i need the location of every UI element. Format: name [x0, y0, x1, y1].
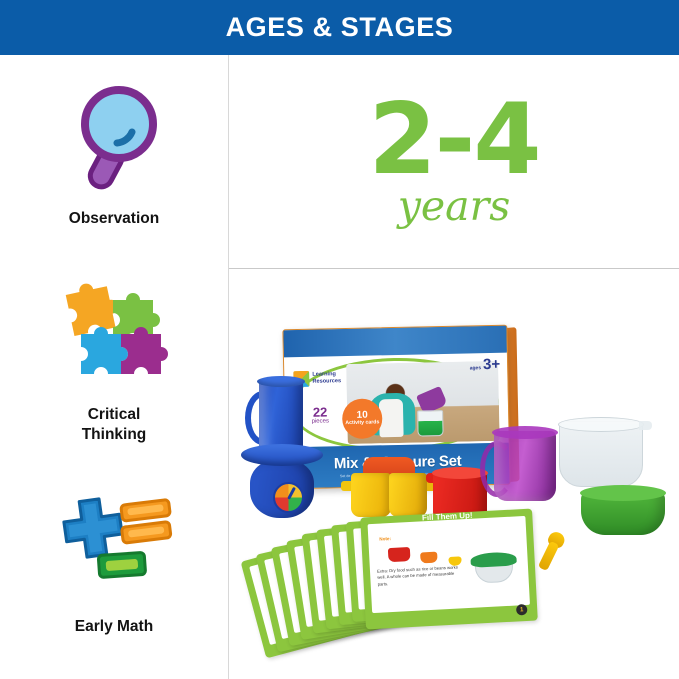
brand-line-2: Resources: [312, 378, 341, 385]
feature-label-line2: Thinking: [0, 425, 228, 445]
scale-plate: [241, 444, 323, 466]
clear-bowl-rim: [558, 417, 644, 432]
math-symbols-icon: [0, 485, 228, 603]
page-header: AGES & STAGES: [0, 0, 679, 55]
card-spoon-orange: [420, 552, 438, 564]
age-panel: 2-4 years: [229, 55, 679, 268]
green-bowl-rim: [580, 485, 666, 501]
child-green-beaker: [417, 410, 444, 437]
page-title: AGES & STAGES: [226, 12, 454, 43]
blue-pitcher-rim: [257, 376, 305, 387]
feature-label-observation: Observation: [0, 209, 228, 229]
product-stage: Learning Resources 22 pieces 10 Activity…: [229, 269, 679, 679]
feature-label-line1: Critical: [0, 405, 228, 425]
purple-pitcher-rim: [492, 426, 558, 439]
activity-card-number: 1: [516, 604, 528, 616]
activity-card-front: Fill Them Up! Note: Extra: Dry food such…: [360, 509, 538, 630]
card-bowl-illustration: [470, 551, 518, 583]
feature-observation: Observation: [0, 77, 228, 229]
purple-pitcher: [482, 429, 562, 505]
activity-cards-label: Activity cards: [345, 420, 379, 426]
clear-bowl-spout: [639, 421, 652, 430]
card-spoon-red: [388, 547, 411, 562]
activity-card-extra-label: Extra:: [377, 568, 388, 574]
brand-logo-text: Learning Resources: [312, 372, 341, 385]
features-column: Observation Critical: [0, 55, 228, 679]
feature-label-early-math: Early Math: [0, 617, 228, 637]
magnifying-glass-icon: [0, 77, 228, 195]
activity-cards-badge: 10 Activity cards: [342, 398, 383, 439]
purple-pitcher-body: [494, 431, 556, 501]
product-image: Learning Resources 22 pieces 10 Activity…: [229, 269, 679, 679]
ages-label: ages: [470, 365, 482, 371]
page-content: Observation Critical: [0, 55, 679, 679]
feature-label-critical-thinking: Critical Thinking: [0, 405, 228, 445]
activity-card-note: Note:: [379, 536, 391, 542]
puzzle-pieces-icon: [0, 273, 228, 391]
age-range: 2-4: [368, 96, 539, 184]
child-apron: [379, 399, 404, 437]
feature-critical-thinking: Critical Thinking: [0, 273, 228, 445]
clear-measuring-bowl: [559, 417, 645, 489]
age-unit: years: [398, 186, 511, 227]
ages-badge: ages 3+: [469, 356, 500, 374]
activity-card-body-text: Dry food such as rice or beans works wel…: [377, 565, 458, 587]
feature-early-math: Early Math: [0, 485, 228, 637]
ages-value: 3+: [483, 356, 500, 373]
activity-cards-fan: Fill Them Up! Note: Extra: Dry food such…: [251, 505, 661, 665]
box-top-strip: [283, 326, 507, 358]
